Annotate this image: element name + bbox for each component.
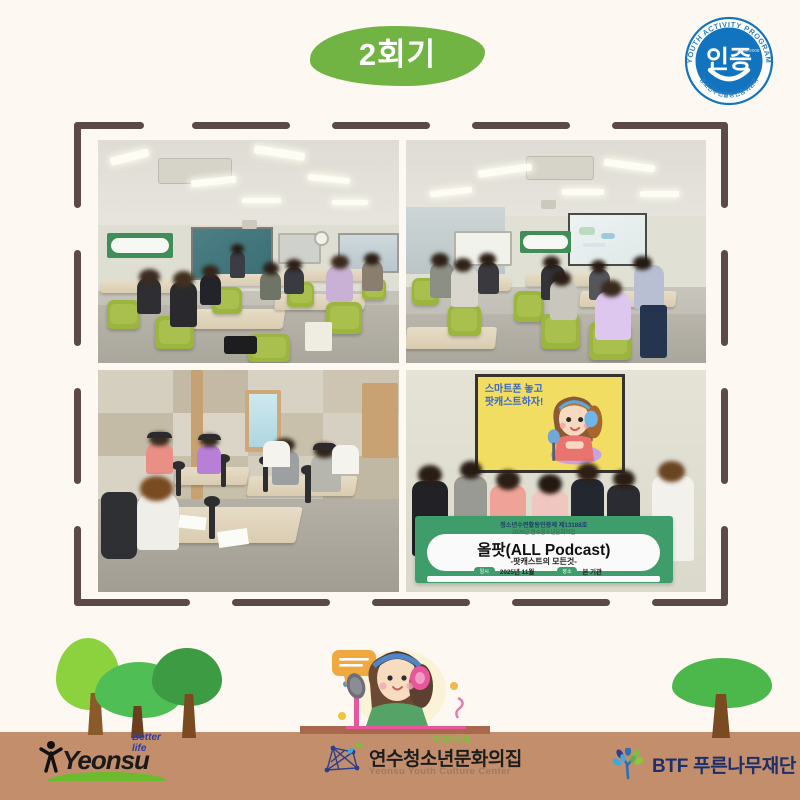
yeonsu-youth-culture-center-logo: 연수청소년문화의집 Yeonsu Youth Culture Center 미디… bbox=[325, 744, 522, 771]
participant bbox=[478, 262, 499, 293]
ycc-english-name: Yeonsu Youth Culture Center bbox=[369, 766, 511, 777]
window bbox=[249, 394, 277, 447]
participant bbox=[146, 443, 173, 474]
yeonsu-tagline: Better life bbox=[132, 732, 161, 754]
wall-banner bbox=[520, 231, 571, 253]
projector bbox=[242, 220, 257, 229]
blurred-face bbox=[552, 271, 571, 285]
participant bbox=[550, 280, 577, 320]
instructor-legs bbox=[640, 305, 667, 358]
participant bbox=[451, 267, 478, 307]
chair bbox=[514, 291, 544, 322]
banner-org-line: 2025년 연수청소년문화의집 bbox=[415, 528, 673, 536]
podcaster-illustration bbox=[300, 628, 490, 734]
tree-left-3 bbox=[152, 648, 236, 736]
poster-card: 2회기 YOUTH ACTIVITY PROGRAM 청소년수련활동인증위원회 … bbox=[0, 0, 800, 800]
participant bbox=[197, 445, 221, 474]
svg-text:Since 2006: Since 2006 bbox=[737, 48, 760, 53]
microphone bbox=[172, 461, 185, 470]
blurred-face bbox=[577, 463, 599, 482]
blurred-face bbox=[633, 256, 652, 271]
photo-grid: 스마트폰 놓고 팟캐스트하자! bbox=[98, 140, 706, 592]
session-title-badge: 2회기 bbox=[310, 26, 485, 86]
participant bbox=[260, 271, 281, 300]
participant bbox=[430, 262, 454, 298]
microphone-stand bbox=[305, 472, 310, 503]
microphone-stand bbox=[221, 461, 226, 488]
ceiling-light bbox=[562, 189, 604, 195]
participant bbox=[326, 265, 353, 303]
headphones bbox=[147, 432, 172, 439]
blurred-face bbox=[286, 259, 302, 271]
btf-foundation-logo: BTF 푸른나무재단 bbox=[612, 748, 796, 780]
photo-classroom-activity bbox=[406, 140, 707, 363]
blurred-face bbox=[139, 269, 160, 285]
banner-meta-label-1: 장소 bbox=[557, 567, 578, 574]
btf-wordmark: BTF 푸른나무재단 bbox=[652, 751, 796, 778]
yeonsu-figure-icon bbox=[38, 739, 64, 773]
blurred-face bbox=[202, 265, 219, 278]
blurred-face bbox=[364, 253, 380, 265]
microphone-stand bbox=[263, 463, 268, 492]
blurred-face bbox=[496, 470, 520, 490]
blurred-face bbox=[331, 255, 349, 269]
tree-right bbox=[672, 658, 782, 738]
participant bbox=[595, 291, 631, 340]
blurred-face bbox=[173, 271, 194, 288]
office-chair bbox=[101, 492, 137, 559]
session-title-text: 2회기 bbox=[359, 39, 436, 73]
certification-seal: YOUTH ACTIVITY PROGRAM 청소년수련활동인증위원회 인증 S… bbox=[676, 8, 782, 114]
participant bbox=[200, 274, 221, 305]
wall-frame bbox=[362, 383, 398, 459]
slide-girl-illustration bbox=[535, 383, 614, 465]
network-mark-icon bbox=[323, 740, 365, 774]
blurred-face bbox=[460, 461, 482, 480]
chair-back bbox=[263, 441, 290, 468]
blurred-face bbox=[140, 476, 173, 500]
camera bbox=[224, 336, 257, 354]
blurred-face bbox=[591, 260, 607, 272]
photo-recording-studio bbox=[98, 370, 399, 593]
blurred-face bbox=[658, 461, 685, 482]
projector bbox=[541, 200, 556, 209]
event-banner: 청소년수련활동인증제 제13188호 2025년 연수청소년문화의집 올팟(AL… bbox=[415, 516, 673, 583]
microphone-stand bbox=[176, 467, 181, 496]
banner-subtitle: -팟캐스트의 모든것- bbox=[415, 556, 673, 567]
yeonsu-logo: Yeonsu Better life bbox=[40, 745, 149, 776]
presenter bbox=[230, 251, 245, 278]
photo-group-banner: 스마트폰 놓고 팟캐스트하자! bbox=[406, 370, 707, 593]
microphone bbox=[204, 496, 220, 507]
chair bbox=[448, 305, 481, 336]
instructor bbox=[634, 265, 664, 310]
blurred-face bbox=[418, 465, 442, 485]
banner-meta-label-0: 일시 bbox=[474, 567, 495, 574]
participant bbox=[170, 282, 197, 327]
ycc-sub-label: 미디어센터 bbox=[433, 734, 470, 745]
microphone-stand bbox=[209, 503, 215, 539]
blurred-face bbox=[538, 474, 562, 494]
banner-meta-value-0: 2025년 11월 bbox=[500, 567, 535, 576]
blurred-face bbox=[601, 280, 622, 296]
headphones bbox=[198, 434, 221, 440]
participant bbox=[284, 267, 304, 294]
wall-banner bbox=[107, 233, 173, 257]
wall-clock bbox=[314, 231, 328, 246]
banner-meta-value-1: 본 기관 bbox=[582, 567, 601, 576]
ceiling-light bbox=[332, 200, 368, 205]
ceiling-light bbox=[640, 191, 679, 196]
ceiling-light bbox=[242, 198, 281, 203]
photo-classroom-lecture bbox=[98, 140, 399, 363]
banner-logo-strip bbox=[427, 576, 660, 582]
seal-icon: YOUTH ACTIVITY PROGRAM 청소년수련활동인증위원회 인증 S… bbox=[676, 8, 782, 114]
air-conditioner bbox=[526, 156, 594, 180]
chair bbox=[107, 300, 140, 329]
projector-screen: 스마트폰 놓고 팟캐스트하자! bbox=[475, 374, 625, 473]
chair-back bbox=[332, 445, 359, 474]
blurred-face bbox=[479, 253, 495, 265]
tote-bag bbox=[305, 322, 332, 351]
blue-tree-icon bbox=[612, 748, 646, 780]
